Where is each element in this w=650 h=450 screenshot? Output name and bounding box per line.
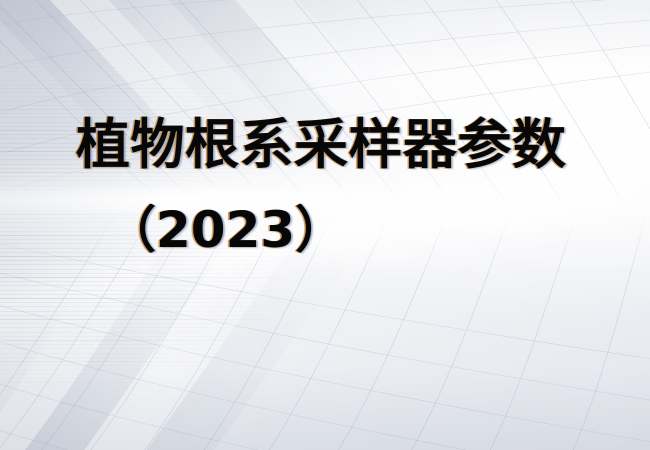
slide-text-block: 植物根系采样器参数 （2023） [0, 0, 650, 450]
page-subtitle-year: （2023） [106, 205, 345, 255]
page-title: 植物根系采样器参数 [76, 118, 567, 172]
title-slide: 植物根系采样器参数 （2023） [0, 0, 650, 450]
